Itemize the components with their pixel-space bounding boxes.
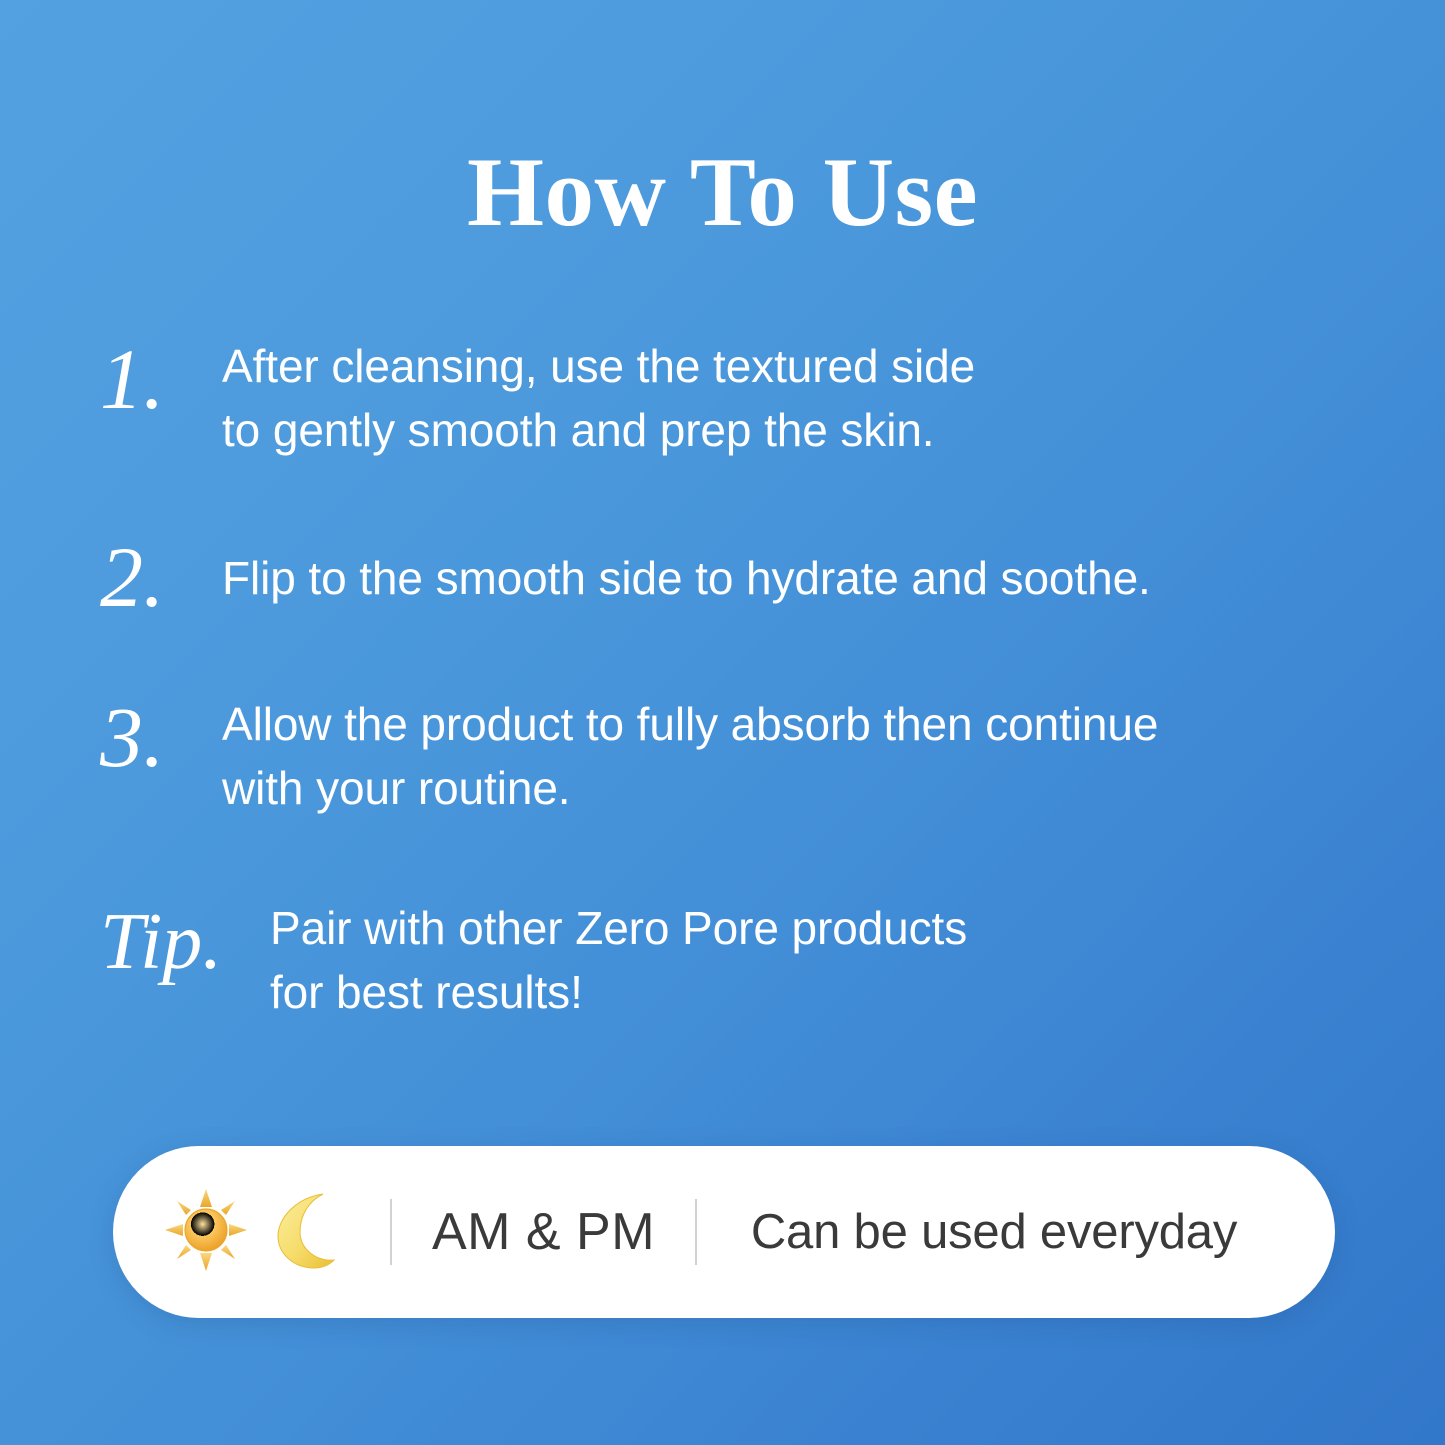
list-item: 2. Flip to the smooth side to hydrate an… — [100, 528, 1370, 620]
step-text-2: Flip to the smooth side to hydrate and s… — [222, 542, 1370, 610]
step-text-3: Allow the product to fully absorb then c… — [222, 688, 1370, 820]
how-to-use-steps: 1. After cleansing, use the textured sid… — [100, 330, 1370, 1024]
step-marker-3: 3. — [100, 688, 222, 780]
pill-icon-group — [113, 1188, 390, 1277]
list-item-tip: Tip. Pair with other Zero Pore products … — [100, 892, 1370, 1024]
list-item: 1. After cleansing, use the textured sid… — [100, 330, 1370, 462]
step-marker-tip: Tip. — [100, 892, 270, 982]
usage-info-pill: AM & PM Can be used everyday — [113, 1146, 1335, 1318]
step-marker-1: 1. — [100, 330, 222, 422]
list-item: 3. Allow the product to fully absorb the… — [100, 688, 1370, 820]
sun-icon — [164, 1188, 248, 1277]
page-title: How To Use — [0, 143, 1445, 242]
step-text-tip: Pair with other Zero Pore products for b… — [270, 892, 1370, 1024]
crescent-moon-icon — [266, 1188, 340, 1277]
frequency-label: Can be used everyday — [697, 1204, 1335, 1260]
time-of-day-label: AM & PM — [392, 1202, 695, 1262]
step-text-1: After cleansing, use the textured side t… — [222, 330, 1370, 462]
step-marker-2: 2. — [100, 528, 222, 620]
